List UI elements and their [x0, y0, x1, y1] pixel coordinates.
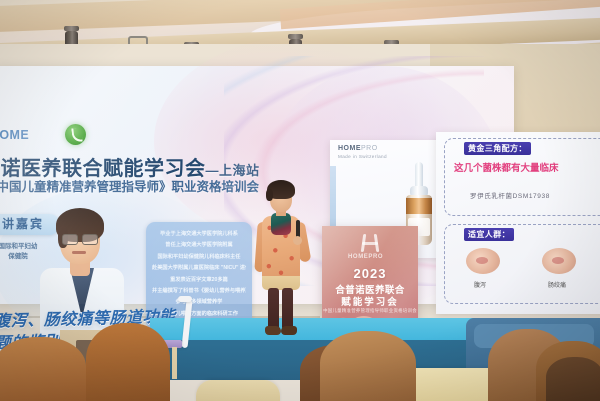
podium-brand: HOMEPRO [348, 254, 383, 260]
formula-tag: 黄金三角配方： [464, 142, 531, 155]
product-logo: HOMEPRO [338, 145, 378, 152]
slide-side-bar [330, 166, 336, 226]
audience-member [0, 337, 86, 401]
audience-member [320, 331, 416, 401]
formula-highlight: 这几个菌株都有大量临床 [454, 160, 559, 174]
baby-photo-icon [542, 248, 576, 274]
baby-photo-icon [466, 248, 500, 274]
audience-caption: 肠绞痛 [548, 280, 566, 289]
step-leg [172, 347, 177, 379]
audience-caption: 腹泻 [474, 280, 486, 289]
product-tagline: Made in Switzerland [338, 154, 387, 159]
speaker-on-stage [248, 180, 314, 338]
chair-back [196, 380, 280, 401]
podium-year: 2023 [322, 266, 418, 281]
audience-member [86, 323, 170, 401]
formula-strain: 罗伊氏乳杆菌DSM17938 [470, 190, 550, 200]
formula-slide: 黄金三角配方： 这几个菌株都有大量临床 罗伊氏乳杆菌DSM17938 适宜人群：… [436, 132, 600, 314]
conference-photo: HOMEPRO 普诺医养联合赋能学习会—上海站 《中国儿童精准营养管理指导师》职… [0, 0, 600, 401]
audience-tag: 适宜人群： [464, 228, 514, 241]
stage-handrail [178, 296, 192, 302]
audience-member [546, 357, 600, 401]
h-monogram-icon [360, 234, 380, 252]
